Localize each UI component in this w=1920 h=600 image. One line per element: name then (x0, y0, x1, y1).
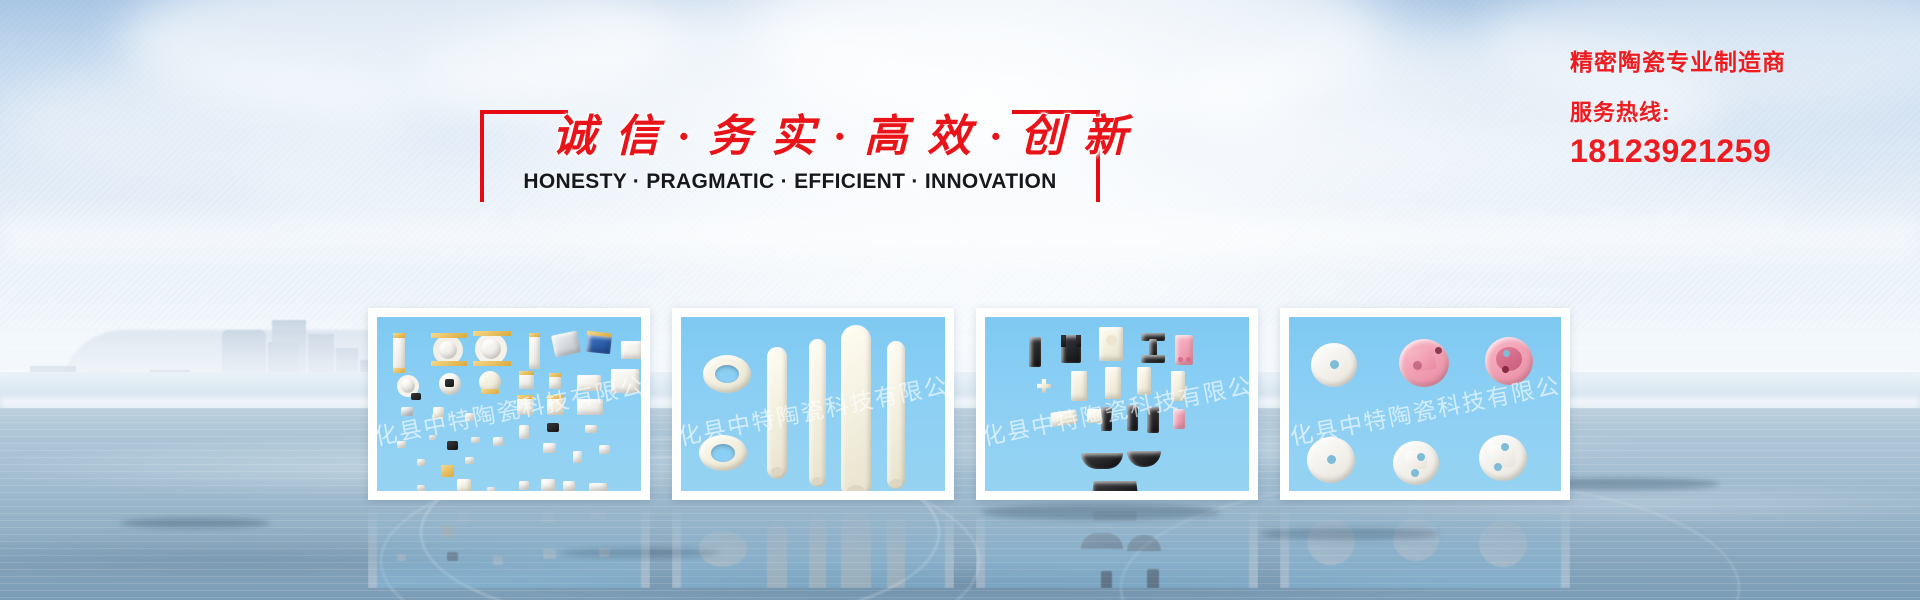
product-panel-3[interactable]: 新化县中特陶瓷科技有限公司 (976, 308, 1258, 500)
panel-2-reflection (672, 502, 954, 588)
product-panel-4-image: 新化县中特陶瓷科技有限公司 (1289, 317, 1561, 491)
product-panel-2-image: 新化县中特陶瓷科技有限公司 (681, 317, 945, 491)
product-gallery: 新化县中特陶瓷科技有限公司 新化县中特陶瓷科技有限公司 (0, 0, 1920, 600)
product-panel-2[interactable]: 新化县中特陶瓷科技有限公司 (672, 308, 954, 500)
panel-3-reflection (976, 502, 1258, 588)
hero-banner: 诚 信 · 务 实 · 高 效 · 创 新 HONESTY · PRAGMATI… (0, 0, 1920, 600)
product-panel-1-image: 新化县中特陶瓷科技有限公司 (377, 317, 641, 491)
panel-1-reflection (368, 502, 650, 588)
product-panel-3-image: 新化县中特陶瓷科技有限公司 (985, 317, 1249, 491)
product-panel-1[interactable]: 新化县中特陶瓷科技有限公司 (368, 308, 650, 500)
panel-4-reflection (1280, 502, 1570, 588)
product-panel-4[interactable]: 新化县中特陶瓷科技有限公司 (1280, 308, 1570, 500)
